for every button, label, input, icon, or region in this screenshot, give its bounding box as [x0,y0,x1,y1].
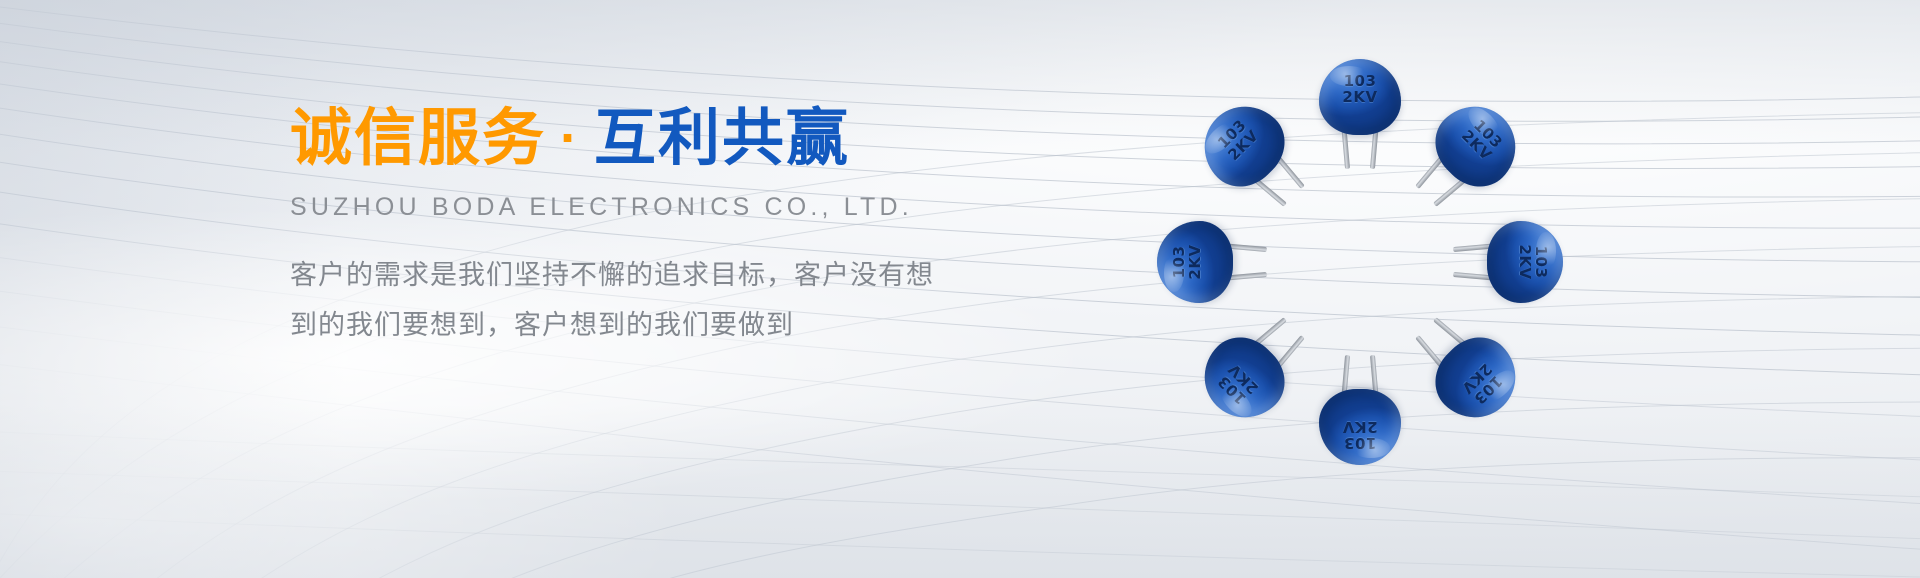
capacitor-marking: 103 2KV [1198,100,1278,180]
capacitor-marking-line-1: 103 [1319,434,1401,450]
capacitor-disc: 103 2KV [1319,59,1401,135]
capacitor-marking: 103 2KV [1516,221,1548,303]
capacitor-marking-line-2: 2KV [1319,90,1401,106]
capacitor-item: 103 2KV [1157,216,1267,308]
banner-subtitle: SUZHOU BODA ELECTRONICS CO., LTD. [290,193,990,222]
capacitor-marking: 103 2KV [1441,343,1521,423]
headline-separator-dot: · [546,108,594,168]
capacitor-disc: 103 2KV [1157,221,1233,303]
capacitor-marking: 103 2KV [1198,343,1278,423]
capacitor-item: 103 2KV [1184,295,1327,438]
capacitor-marking: 103 2KV [1319,74,1401,106]
banner-body-copy: 客户的需求是我们坚持不懈的追求目标，客户没有想 到的我们要想到，客户想到的我们要… [290,251,990,351]
capacitor-item: 103 2KV [1393,86,1536,229]
capacitor-marking-line-1: 103 [1532,221,1548,303]
capacitor-disc: 103 2KV [1421,323,1533,435]
capacitor-disc: 103 2KV [1187,89,1299,201]
banner-copy-block: 诚信服务·互利共赢 SUZHOU BODA ELECTRONICS CO., L… [290,106,990,351]
capacitor-item: 103 2KV [1393,295,1536,438]
banner-headline: 诚信服务·互利共赢 [290,106,990,173]
capacitor-disc: 103 2KV [1487,221,1563,303]
capacitor-disc: 103 2KV [1421,89,1533,201]
headline-orange-text: 诚信服务 [290,104,546,173]
capacitor-disc: 103 2KV [1187,323,1299,435]
capacitor-marking-line-2: 2KV [1188,221,1204,303]
body-copy-line-2: 到的我们要想到，客户想到的我们要做到 [290,301,990,351]
body-copy-line-1: 客户的需求是我们坚持不懈的追求目标，客户没有想 [290,251,990,301]
headline-blue-text: 互利共赢 [594,104,850,173]
capacitor-item: 103 2KV [1314,355,1406,465]
capacitor-marking-line-2: 2KV [1516,221,1532,303]
capacitor-marking: 103 2KV [1319,418,1401,450]
hero-banner: 诚信服务·互利共赢 SUZHOU BODA ELECTRONICS CO., L… [0,0,1920,578]
capacitor-marking-line-2: 2KV [1319,418,1401,434]
capacitor-item: 103 2KV [1314,59,1406,169]
capacitor-marking: 103 2KV [1441,100,1521,180]
capacitor-disc: 103 2KV [1319,389,1401,465]
capacitor-ring: 103 2KV 103 2KV [1150,52,1570,472]
capacitor-item: 103 2KV [1453,216,1563,308]
capacitor-marking: 103 2KV [1172,221,1204,303]
capacitor-item: 103 2KV [1184,86,1327,229]
